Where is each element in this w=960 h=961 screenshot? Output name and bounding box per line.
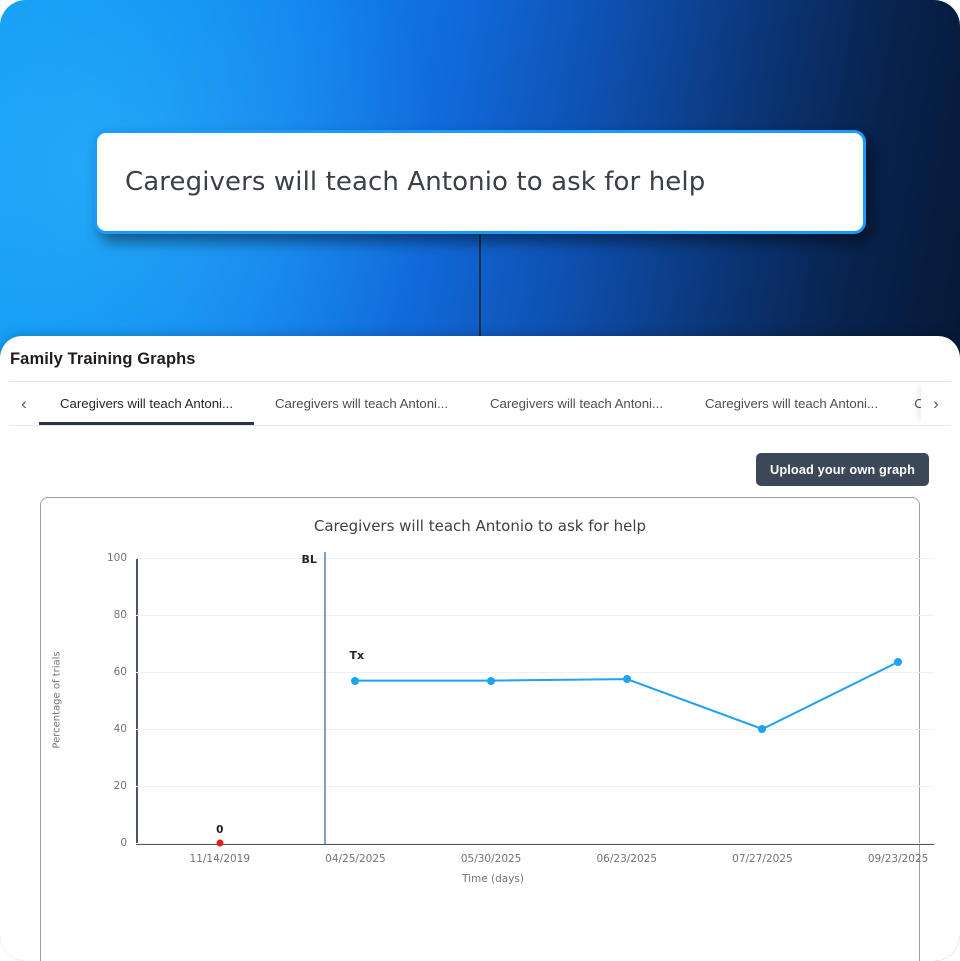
tab-strip: ‹ Caregivers will teach Antoni... Caregi… <box>9 381 951 426</box>
chevron-right-icon[interactable]: › <box>921 382 951 425</box>
x-axis-label: Time (days) <box>462 873 524 885</box>
data-point[interactable] <box>351 677 359 685</box>
y-tick-label: 40 <box>114 723 127 735</box>
page-title: Family Training Graphs <box>10 350 196 369</box>
plot-wrapper: Percentage of trials 020406080100 11/14/… <box>93 558 893 903</box>
tab-label: Caregivers will teach Antoni... <box>705 396 878 411</box>
tab-item-3[interactable]: Caregivers will teach Antoni... <box>684 382 899 425</box>
data-point[interactable] <box>758 725 766 733</box>
tab-item-0[interactable]: Caregivers will teach Antoni... <box>39 382 254 425</box>
callout-tooltip: Caregivers will teach Antonio to ask for… <box>94 130 866 234</box>
app-panel: Family Training Graphs ‹ Caregivers will… <box>0 336 960 961</box>
upload-your-own-graph-button[interactable]: Upload your own graph <box>756 453 929 486</box>
y-tick-label: 80 <box>114 609 127 621</box>
tab-label: Caregivers will teach Antoni... <box>60 396 233 411</box>
x-tick-label: 04/25/2025 <box>325 853 386 865</box>
y-tick-label: 20 <box>114 780 127 792</box>
data-point[interactable] <box>487 677 495 685</box>
background-gradient: Caregivers will teach Antonio to ask for… <box>0 0 960 961</box>
chart-card: Caregivers will teach Antonio to ask for… <box>40 497 920 961</box>
phase-label-tx: Tx <box>349 649 364 662</box>
x-tick-label: 07/27/2025 <box>732 853 793 865</box>
x-tick-label: 06/23/2025 <box>597 853 658 865</box>
x-tick-label: 11/14/2019 <box>190 853 251 865</box>
x-tick-label: 09/23/2025 <box>868 853 929 865</box>
data-point[interactable] <box>894 658 902 666</box>
tab-label: Caregivers will teach Antoni... <box>275 396 448 411</box>
tab-track: Caregivers will teach Antoni... Caregive… <box>39 382 951 425</box>
y-tick-label: 60 <box>114 666 127 678</box>
tab-item-1[interactable]: Caregivers will teach Antoni... <box>254 382 469 425</box>
data-point[interactable] <box>623 675 631 683</box>
data-point[interactable] <box>216 840 223 847</box>
y-tick-label: 0 <box>120 837 127 849</box>
x-tick-label: 05/30/2025 <box>461 853 522 865</box>
y-tick-label: 100 <box>107 552 127 564</box>
gridline <box>136 843 934 844</box>
chart-title: Caregivers will teach Antonio to ask for… <box>41 517 919 535</box>
plot-area: 020406080100 11/14/201904/25/202505/30/2… <box>136 558 934 843</box>
tab-item-2[interactable]: Caregivers will teach Antoni... <box>469 382 684 425</box>
tab-label: Caregivers will teach Antoni... <box>490 396 663 411</box>
callout-text: Caregivers will teach Antonio to ask for… <box>125 167 705 197</box>
y-axis-label: Percentage of trials <box>52 651 63 748</box>
chevron-left-icon[interactable]: ‹ <box>9 382 39 425</box>
data-point-label: 0 <box>216 824 223 836</box>
series-line <box>136 558 934 843</box>
